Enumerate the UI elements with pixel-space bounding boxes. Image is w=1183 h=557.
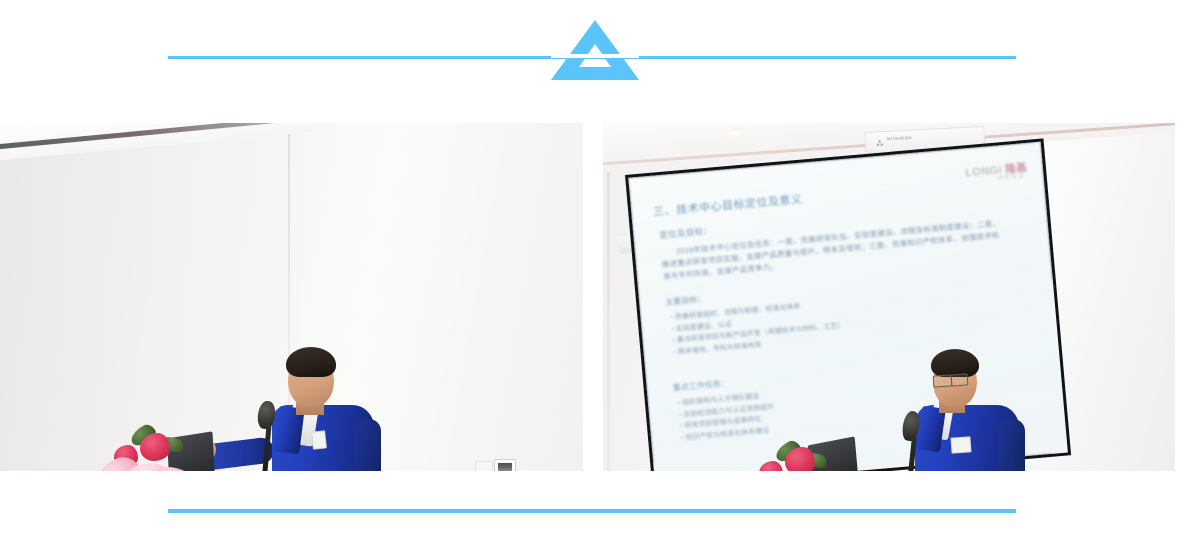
photo-right[interactable]: MITSUBISHI LONGi 隆基 绿色能源 三、技术中心目标定位及意义 定… (603, 123, 1175, 471)
speaker-left-badge (311, 430, 327, 449)
ac-brand-label: MITSUBISHI (887, 135, 912, 141)
speaker-right-sleeve (999, 419, 1025, 471)
photo-left-scene (0, 123, 583, 471)
bouquet-flowers (731, 441, 861, 471)
bottom-divider-band (0, 0, 1183, 20)
speaker-right-badge (950, 436, 971, 453)
photo-right-scene: MITSUBISHI LONGi 隆基 绿色能源 三、技术中心目标定位及意义 定… (603, 123, 1175, 471)
photo-left[interactable] (0, 123, 583, 471)
speaker-left-sleeve (355, 419, 381, 471)
bouquet-flowers (88, 423, 218, 471)
mitsubishi-three-diamonds-icon (875, 134, 884, 142)
photo-gallery-row: MITSUBISHI LONGi 隆基 绿色能源 三、技术中心目标定位及意义 定… (0, 123, 1183, 471)
ac-control-panel-icon (494, 459, 516, 471)
bottom-horizontal-rule (168, 509, 1016, 513)
eyeglasses-icon (933, 374, 953, 387)
switch-plate-icon (475, 461, 493, 471)
speaker-left-hair (286, 347, 336, 377)
ceiling-downlight-icon (721, 126, 748, 141)
eyeglasses-icon (951, 373, 969, 386)
side-wall (0, 123, 300, 471)
wall-corner-seam (607, 123, 610, 471)
triangle-divider-ornament (551, 20, 639, 80)
speaker-right-hair (931, 349, 979, 377)
